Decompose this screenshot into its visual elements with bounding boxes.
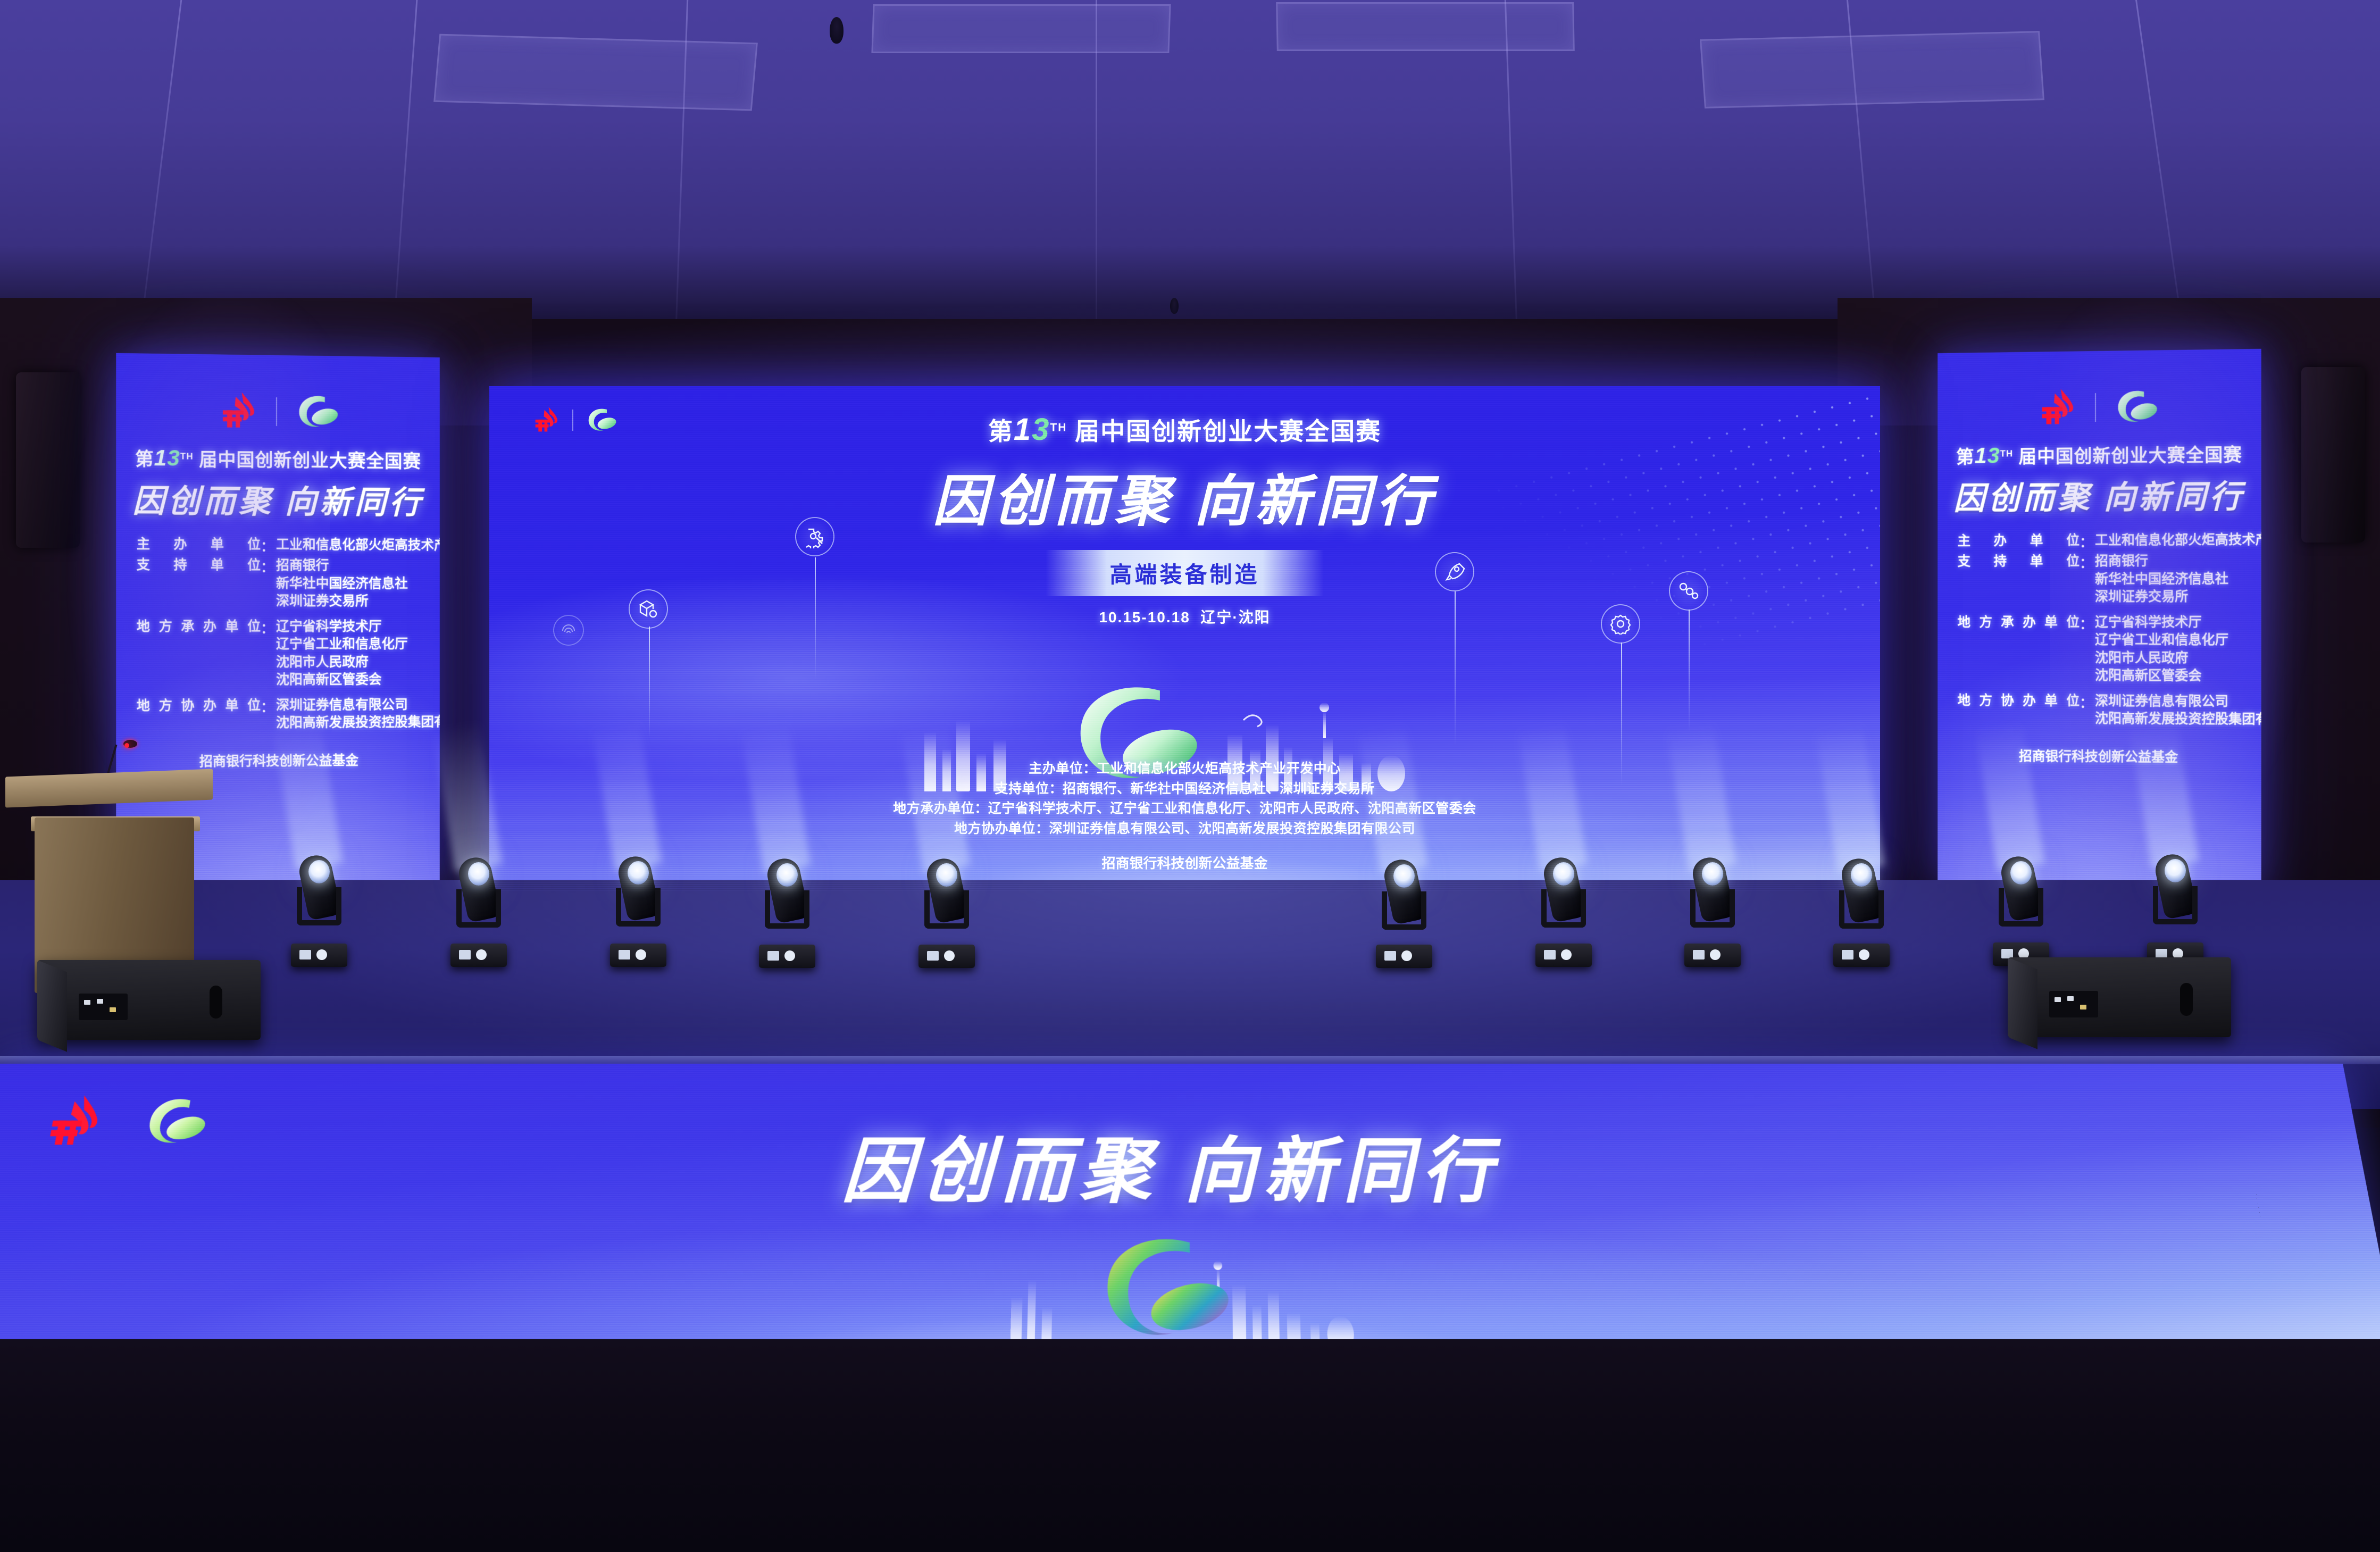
organizer-value: 招商银行 bbox=[2095, 552, 2241, 570]
panel-event-title: 第13TH 届中国创新创业大赛全国赛 bbox=[130, 444, 427, 473]
event-number-one: 1 bbox=[154, 445, 168, 470]
organizer-label: 支持单位 bbox=[1958, 553, 2080, 571]
moving-head-light bbox=[1681, 857, 1744, 967]
ceiling-light-panel bbox=[1700, 31, 2044, 109]
logo-divider bbox=[276, 397, 277, 426]
torch-logo bbox=[216, 391, 260, 431]
event-ordinal-suffix: TH bbox=[180, 451, 194, 461]
organizer-value: 沈阳高新发展投资控股集团有限公司 bbox=[2095, 710, 2261, 729]
ceiling-spotlight bbox=[1170, 298, 1179, 314]
event-title-text: 届中国创新创业大赛全国赛 bbox=[199, 450, 421, 472]
organizer-colon: ： bbox=[261, 557, 276, 576]
organizer-value: 辽宁省科学技术厅 bbox=[276, 618, 420, 636]
strip-skyline-graphic bbox=[842, 1214, 1501, 1354]
panel-slogan: 因创而聚 向新同行 bbox=[1951, 471, 2248, 519]
stage-photograph: 第13TH 届中国创新创业大赛全国赛 因创而聚 向新同行 主办单位 ： 工业和信… bbox=[0, 0, 2380, 1552]
organizer-value: 辽宁省科学技术厅 bbox=[2095, 613, 2241, 631]
auditorium-floor bbox=[0, 1339, 2380, 1552]
china-innovation-c-logo bbox=[293, 392, 341, 432]
ceiling-spotlight bbox=[830, 17, 844, 44]
organizer-colon: ： bbox=[261, 536, 276, 555]
organizer-line: 支持单位：招商银行、新华社中国经济信息社、深圳证券交易所 bbox=[489, 779, 1880, 799]
panel-organizer-list: 主办单位 ： 工业和信息化部火炬高技术产业开发中心 支持单位 ： 招商银行 新华… bbox=[1951, 531, 2248, 729]
organizer-group: 地方承办单位 ： 辽宁省科学技术厅 辽宁省工业和信息化厅 沈阳市人民政府 沈阳高… bbox=[1958, 613, 2241, 685]
screen-event-title: 第13TH 届中国创新创业大赛全国赛 bbox=[489, 412, 1880, 447]
event-ordinal-suffix: TH bbox=[1050, 422, 1067, 434]
organizer-line: 地方协办单位：深圳证券信息有限公司、沈阳高新发展投资控股集团有限公司 bbox=[489, 819, 1880, 839]
front-stage-led-strip: 因创而聚 向新同行 bbox=[0, 1064, 2380, 1354]
moving-head-light bbox=[447, 857, 511, 967]
organizer-group: 支持单位 ： 招商银行 新华社中国经济信息社 深圳证券交易所 bbox=[1958, 552, 2241, 606]
event-prefix: 第 bbox=[135, 449, 154, 470]
podium-top-surface bbox=[5, 769, 213, 808]
wall-speaker bbox=[16, 372, 80, 548]
organizer-value: 新华社中国经济信息社 bbox=[276, 574, 420, 593]
logo-divider bbox=[2095, 393, 2096, 422]
moving-head-light bbox=[1532, 857, 1596, 967]
ceiling-light-panel bbox=[1276, 2, 1575, 51]
screen-center-text-block: 第13TH 届中国创新创业大赛全国赛 因创而聚 向新同行 高端装备制造 10.1… bbox=[489, 412, 1880, 627]
organizer-value: 新华社中国经济信息社 bbox=[2095, 570, 2241, 588]
organizer-value: 辽宁省工业和信息化厅 bbox=[276, 636, 420, 654]
organizer-label: 地方承办单位 bbox=[137, 618, 261, 635]
organizer-value: 沈阳市人民政府 bbox=[276, 653, 420, 671]
ceiling-seam bbox=[139, 0, 182, 340]
screen-organizer-block: 主办单位：工业和信息化部火炬高技术产业开发中心 支持单位：招商银行、新华社中国经… bbox=[489, 759, 1880, 872]
organizer-label: 地方承办单位 bbox=[1958, 614, 2080, 631]
organizer-colon: ： bbox=[2080, 553, 2095, 572]
stage-edge-trim bbox=[0, 1056, 2380, 1064]
moving-head-light bbox=[915, 858, 979, 968]
ceiling-seam bbox=[1505, 0, 1518, 340]
organizer-value: 深圳证券信息有限公司 bbox=[2095, 692, 2261, 711]
moving-head-light bbox=[755, 858, 819, 968]
screen-fund-line: 招商银行科技创新公益基金 bbox=[489, 853, 1880, 872]
organizer-label: 主办单位 bbox=[137, 536, 261, 554]
organizer-colon: ： bbox=[2080, 532, 2095, 551]
organizer-group: 地方承办单位 ： 辽宁省科学技术厅 辽宁省工业和信息化厅 沈阳市人民政府 沈阳高… bbox=[137, 618, 420, 689]
organizer-colon: ： bbox=[261, 618, 276, 637]
event-number-three: 3 bbox=[1032, 412, 1050, 447]
main-led-screen: 第13TH 届中国创新创业大赛全国赛 因创而聚 向新同行 高端装备制造 10.1… bbox=[489, 386, 1880, 891]
organizer-value: 辽宁省工业和信息化厅 bbox=[2095, 631, 2241, 649]
organizer-value: 工业和信息化部火炬高技术产业开发中心 bbox=[276, 536, 440, 555]
organizer-colon: ： bbox=[2080, 692, 2095, 711]
moving-head-light bbox=[287, 855, 351, 967]
event-prefix: 第 bbox=[988, 418, 1014, 445]
event-number-three: 3 bbox=[1987, 443, 2000, 468]
organizer-value: 沈阳市人民政府 bbox=[2095, 649, 2241, 667]
panel-slogan: 因创而聚 向新同行 bbox=[130, 475, 427, 523]
organizer-label: 支持单位 bbox=[137, 556, 261, 574]
icon-stem bbox=[649, 627, 650, 738]
moving-head-light bbox=[606, 856, 670, 967]
organizer-value: 深圳证券交易所 bbox=[276, 593, 420, 611]
event-title-text: 届中国创新创业大赛全国赛 bbox=[2018, 445, 2242, 468]
moving-head-light bbox=[1830, 858, 1893, 967]
microphone-led-indicator bbox=[124, 743, 129, 748]
torch-logo bbox=[2036, 388, 2079, 428]
china-innovation-c-logo bbox=[2112, 387, 2161, 427]
date-range: 10.15-10.18 bbox=[1099, 609, 1190, 625]
organizer-line: 地方承办单位：辽宁省科学技术厅、辽宁省工业和信息化厅、沈阳市人民政府、沈阳高新区… bbox=[489, 799, 1880, 819]
organizer-group: 支持单位 ： 招商银行 新华社中国经济信息社 深圳证券交易所 bbox=[137, 556, 420, 611]
wedge-stage-monitor bbox=[37, 960, 261, 1040]
organizer-label: 地方协办单位 bbox=[137, 697, 261, 715]
moving-head-light bbox=[1989, 856, 2053, 966]
right-side-led-panel: 第13TH 届中国创新创业大赛全国赛 因创而聚 向新同行 主办单位 ： 工业和信… bbox=[1938, 349, 2261, 890]
ceiling-light-panel bbox=[433, 34, 758, 111]
ceiling-light-panel bbox=[871, 4, 1171, 53]
moving-head-light bbox=[2143, 854, 2207, 966]
organizer-value: 沈阳高新区管委会 bbox=[276, 671, 420, 689]
wedge-stage-monitor bbox=[2008, 957, 2231, 1037]
panel-logo-row bbox=[1951, 379, 2248, 436]
event-number-three: 3 bbox=[167, 445, 180, 470]
screen-slogan: 因创而聚 向新同行 bbox=[489, 456, 1880, 536]
organizer-label: 主办单位 bbox=[1958, 532, 2080, 550]
event-title-text: 届中国创新创业大赛全国赛 bbox=[1075, 418, 1381, 445]
ceiling-seam bbox=[2135, 0, 2185, 340]
wall-speaker bbox=[2301, 367, 2365, 543]
panel-logo-row bbox=[130, 383, 427, 440]
screen-date-location: 10.15-10.18 辽宁·沈阳 bbox=[489, 606, 1880, 627]
ceiling bbox=[0, 0, 2380, 340]
organizer-colon: ： bbox=[2080, 614, 2095, 633]
location-text: 辽宁·沈阳 bbox=[1200, 609, 1270, 625]
organizer-value: 招商银行 bbox=[276, 557, 420, 575]
moving-head-light bbox=[1372, 860, 1436, 968]
panel-organizer-list: 主办单位 ： 工业和信息化部火炬高技术产业开发中心 支持单位 ： 招商银行 新华… bbox=[130, 536, 427, 733]
organizer-group: 主办单位 ： 工业和信息化部火炬高技术产业开发中心 bbox=[1958, 531, 2241, 552]
event-ordinal-suffix: TH bbox=[2000, 448, 2013, 458]
category-badge: 高端装备制造 bbox=[1046, 550, 1323, 596]
strip-slogan: 因创而聚 向新同行 bbox=[0, 1114, 2373, 1217]
organizer-value: 工业和信息化部火炬高技术产业开发中心 bbox=[2095, 531, 2261, 550]
panel-event-title: 第13TH 届中国创新创业大赛全国赛 bbox=[1951, 440, 2248, 469]
organizer-value: 沈阳高新区管委会 bbox=[2095, 667, 2241, 685]
event-prefix: 第 bbox=[1956, 447, 1974, 468]
gooseneck-microphone bbox=[106, 745, 118, 777]
organizer-group: 主办单位 ： 工业和信息化部火炬高技术产业开发中心 bbox=[137, 536, 420, 556]
category-badge-text: 高端装备制造 bbox=[1109, 562, 1259, 587]
organizer-value: 深圳证券交易所 bbox=[2095, 588, 2241, 606]
ceiling-seam bbox=[393, 0, 418, 340]
